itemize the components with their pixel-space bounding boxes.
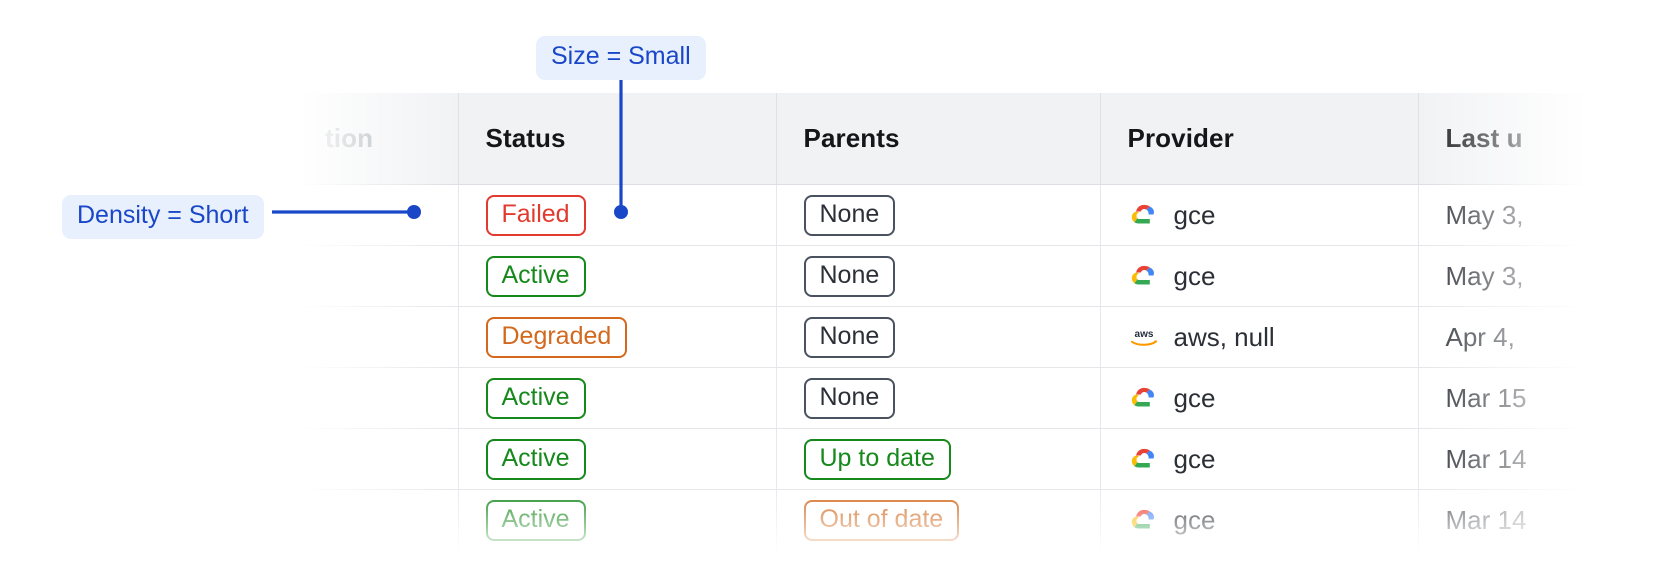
- cell-description: [298, 429, 458, 490]
- column-header-last-updated[interactable]: Last u: [1418, 93, 1672, 185]
- cell-provider: gce: [1100, 368, 1418, 429]
- gcp-cloud-icon: [1128, 443, 1160, 475]
- column-header-parents[interactable]: Parents: [776, 93, 1100, 185]
- gcp-cloud-icon: [1128, 504, 1160, 536]
- provider-label: gce: [1174, 383, 1216, 414]
- cell-parents: None: [776, 246, 1100, 307]
- data-table-viewport[interactable]: tion Status Parents Provider Last u Fail…: [298, 93, 1672, 564]
- cell-provider: gce: [1100, 429, 1418, 490]
- cell-description: [298, 185, 458, 246]
- table-row[interactable]: DegradedNoneawsaws, nullApr 4,: [298, 307, 1672, 368]
- cell-provider: gce: [1100, 246, 1418, 307]
- parents-badge: Up to date: [804, 439, 951, 480]
- cell-parents: Out of date: [776, 490, 1100, 551]
- column-header-status[interactable]: Status: [458, 93, 776, 185]
- provider-label: gce: [1174, 261, 1216, 292]
- cell-provider: awsaws, null: [1100, 307, 1418, 368]
- cell-last-updated: Mar 14: [1418, 429, 1672, 490]
- cell-last-updated: Mar 15: [1418, 368, 1672, 429]
- cell-description: [298, 246, 458, 307]
- provider-label: gce: [1174, 444, 1216, 475]
- cell-status: Active: [458, 429, 776, 490]
- gcp-cloud-icon: [1128, 260, 1160, 292]
- table-row[interactable]: ActiveNonegceMay 3,: [298, 246, 1672, 307]
- svg-text:aws: aws: [1134, 329, 1153, 340]
- cell-status: Active: [458, 490, 776, 551]
- status-badge: Degraded: [486, 317, 628, 358]
- parents-badge-label: None: [820, 261, 880, 289]
- parents-badge: Out of date: [804, 500, 960, 541]
- table-row[interactable]: ActiveNonegceMar 15: [298, 368, 1672, 429]
- parents-badge: None: [804, 378, 896, 419]
- cell-parents: None: [776, 368, 1100, 429]
- table-row[interactable]: ActiveUp to dategceMar 14: [298, 429, 1672, 490]
- last-updated-label: Mar 14: [1446, 505, 1527, 535]
- provider-group: gce: [1128, 260, 1418, 292]
- status-badge: Failed: [486, 195, 586, 236]
- table-row[interactable]: ActiveOut of dategceMar 14: [298, 490, 1672, 551]
- aws-icon: aws: [1128, 321, 1160, 353]
- status-badge: Active: [486, 439, 586, 480]
- provider-group: gce: [1128, 382, 1418, 414]
- annotation-density-label: Density = Short: [62, 195, 264, 239]
- parents-badge: None: [804, 256, 896, 297]
- last-updated-label: May 3,: [1446, 200, 1524, 230]
- provider-group: awsaws, null: [1128, 321, 1418, 353]
- cell-parents: None: [776, 185, 1100, 246]
- gcp-cloud-icon: [1128, 382, 1160, 414]
- provider-label: aws, null: [1174, 322, 1275, 353]
- column-header-provider[interactable]: Provider: [1100, 93, 1418, 185]
- cell-last-updated: Mar 14: [1418, 490, 1672, 551]
- annotation-size-label: Size = Small: [536, 36, 706, 80]
- provider-label: gce: [1174, 505, 1216, 536]
- cell-parents: None: [776, 307, 1100, 368]
- cell-status: Active: [458, 368, 776, 429]
- provider-label: gce: [1174, 200, 1216, 231]
- resources-table: tion Status Parents Provider Last u Fail…: [298, 93, 1672, 550]
- provider-group: gce: [1128, 443, 1418, 475]
- cell-status: Failed: [458, 185, 776, 246]
- provider-group: gce: [1128, 504, 1418, 536]
- column-header-description[interactable]: tion: [298, 93, 458, 185]
- gcp-cloud-icon: [1128, 199, 1160, 231]
- parents-badge-label: None: [820, 383, 880, 411]
- provider-group: gce: [1128, 199, 1418, 231]
- last-updated-label: Mar 14: [1446, 444, 1527, 474]
- cell-provider: gce: [1100, 490, 1418, 551]
- status-badge: Active: [486, 500, 586, 541]
- last-updated-label: May 3,: [1446, 261, 1524, 291]
- last-updated-label: Apr 4,: [1446, 322, 1515, 352]
- cell-provider: gce: [1100, 185, 1418, 246]
- parents-badge: None: [804, 195, 896, 236]
- cell-parents: Up to date: [776, 429, 1100, 490]
- cell-description: [298, 368, 458, 429]
- cell-last-updated: Apr 4,: [1418, 307, 1672, 368]
- cell-status: Degraded: [458, 307, 776, 368]
- cell-description: [298, 490, 458, 551]
- parents-badge: None: [804, 317, 896, 358]
- cell-status: Active: [458, 246, 776, 307]
- table-row[interactable]: FailedNonegceMay 3,: [298, 185, 1672, 246]
- table-header-row: tion Status Parents Provider Last u: [298, 93, 1672, 185]
- cell-last-updated: May 3,: [1418, 246, 1672, 307]
- table-header: tion Status Parents Provider Last u: [298, 93, 1672, 185]
- parents-badge-label: None: [820, 200, 880, 228]
- parents-badge-label: None: [820, 322, 880, 350]
- status-badge: Active: [486, 378, 586, 419]
- cell-last-updated: May 3,: [1418, 185, 1672, 246]
- last-updated-label: Mar 15: [1446, 383, 1527, 413]
- table-body: FailedNonegceMay 3,ActiveNonegceMay 3,De…: [298, 185, 1672, 551]
- status-badge: Active: [486, 256, 586, 297]
- cell-description: [298, 307, 458, 368]
